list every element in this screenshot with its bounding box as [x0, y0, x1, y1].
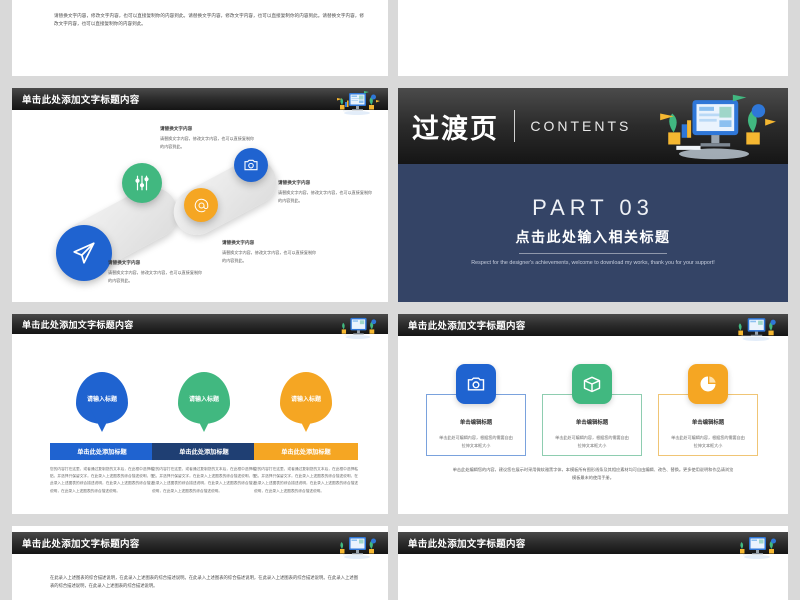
- slide-g-paragraph: 在此录入上述图表的综合描述说明，在此录入上述图表的综合描述说明。在此录入上述图表…: [50, 574, 358, 591]
- card-title: 单击编辑标题: [542, 418, 642, 426]
- slide-thumbnail-mid-left[interactable]: 单击此处添加文字标题内容: [12, 88, 388, 302]
- card-column-3: 单击编辑标题 单击此处可编辑内容，根据您的需要自由拉伸文本框大小: [658, 364, 758, 450]
- desk-illustration-icon: [334, 90, 380, 116]
- desk-illustration-icon: [336, 315, 380, 340]
- map-pin-icon[interactable]: 请输入标题: [280, 372, 332, 424]
- slide-c-titlebar: 单击此处添加文字标题内容: [12, 88, 388, 110]
- at-sign-icon[interactable]: [184, 188, 218, 222]
- paper-plane-icon[interactable]: [56, 225, 112, 281]
- slide-thumbnail-pins[interactable]: 单击此处添加文字标题内容: [12, 314, 388, 514]
- box-icon[interactable]: [572, 364, 612, 404]
- card-title: 单击编辑标题: [426, 418, 526, 426]
- slide-thumbnail-bottom-left[interactable]: 单击此处添加文字标题内容 在此录: [12, 526, 388, 600]
- card-column-2: 单击编辑标题 单击此处可编辑内容，根据您的需要自由拉伸文本框大小: [542, 364, 642, 450]
- card-column-1: 单击编辑标题 单击此处可编辑内容，根据您的需要自由拉伸文本框大小: [426, 364, 526, 450]
- slide-c-note-4: 请替换文字内容 请替换文字内容，修改文字内容，也可以直接复制你的内容到此。: [108, 260, 204, 285]
- pin-column-3: 请输入标题 单击此处添加标题 您的内容打在这里，或者通过复制您的文本后，在此框中…: [254, 372, 358, 495]
- card-body: 单击此处可编辑内容，根据您的需要自由拉伸文本框大小: [426, 434, 526, 450]
- map-pin-icon[interactable]: 请输入标题: [178, 372, 230, 424]
- note-title: 请替换文字内容: [278, 180, 374, 186]
- card-body: 单击此处可编辑内容，根据您的需要自由拉伸文本框大小: [658, 434, 758, 450]
- slide-c-title: 单击此处添加文字标题内容: [22, 92, 140, 106]
- note-body: 请替换文字内容，修改文字内容，也可以直接复制你的内容到此。: [278, 189, 374, 205]
- template-preview-page: 请替换文字内容，修改文字内容，也可以直接复制你的内容到此。请替换文字内容，修改文…: [0, 0, 800, 600]
- slide-c-note-2: 请替换文字内容 请替换文字内容，修改文字内容，也可以直接复制你的内容到此。: [278, 180, 374, 205]
- slide-f-title: 单击此处添加文字标题内容: [408, 318, 526, 332]
- note-body: 请替换文字内容，修改文字内容，也可以直接复制你的内容到此。: [108, 269, 204, 285]
- divider-header-en: CONTENTS: [530, 118, 631, 134]
- pin-column-2: 请输入标题 单击此处添加标题 您的内容打在这里，或者通过复制您的文本后，在此框中…: [152, 372, 256, 495]
- slide-g-title: 单击此处添加文字标题内容: [22, 536, 140, 550]
- note-title: 请替换文字内容: [108, 260, 204, 266]
- pin-label: 请输入标题: [87, 394, 117, 403]
- slide-thumbnail-section-divider[interactable]: 过渡页 CONTENTS: [398, 88, 788, 302]
- pin-bar-label[interactable]: 单击此处添加标题: [152, 443, 256, 460]
- slide-b-callout-left: 请替换文字内容 请替换文字内容，点击添加相关标题文字，修改文字内容，也可以直接复…: [424, 0, 520, 1]
- pie-chart-icon[interactable]: [688, 364, 728, 404]
- callout-body: 请替换文字内容，点击添加相关标题文字，修改文字内容，也可以直接复制你的内容到此。: [424, 0, 520, 1]
- desk-illustration-icon: [734, 534, 780, 560]
- pin-bar-label[interactable]: 单击此处添加标题: [254, 443, 358, 460]
- sliders-icon[interactable]: [122, 163, 162, 203]
- divider-rule: [519, 253, 667, 254]
- slide-c-note-1: 请替换文字内容 请替换文字内容，修改文字内容，也可以直接复制你的内容到此。: [160, 126, 256, 151]
- slide-a-paragraph: 请替换文字内容，修改文字内容，也可以直接复制你的内容到此。请替换文字内容，修改文…: [54, 12, 364, 29]
- slide-c-note-3: 请替换文字内容 请替换文字内容，修改文字内容，也可以直接复制你的内容到此。: [222, 240, 318, 265]
- desk-illustration-icon: [652, 92, 776, 162]
- pin-label: 请输入标题: [291, 394, 321, 403]
- slide-thumbnail-top-right[interactable]: 请替换文字内容 请替换文字内容，点击添加相关标题文字，修改文字内容，也可以直接复…: [398, 0, 788, 76]
- slide-thumbnail-top-left[interactable]: 请替换文字内容，修改文字内容，也可以直接复制你的内容到此。请替换文字内容，修改文…: [12, 0, 388, 76]
- card-body: 单击此处可编辑内容，根据您的需要自由拉伸文本框大小: [542, 434, 642, 450]
- divider-english-note: Respect for the designer's achievements,…: [398, 259, 788, 269]
- pin-body: 您的内容打在这里，或者通过复制您的文本后，在此框中选择粘贴，并选择只保留文字。在…: [152, 466, 256, 495]
- slide-f-titlebar: 单击此处添加文字标题内容: [398, 314, 788, 336]
- pin-body: 您的内容打在这里，或者通过复制您的文本后，在此框中选择粘贴，并选择只保留文字。在…: [254, 466, 358, 495]
- slide-g-titlebar: 单击此处添加文字标题内容: [12, 532, 388, 554]
- desk-illustration-icon: [732, 315, 780, 342]
- divider-separator: [514, 110, 515, 142]
- map-pin-icon[interactable]: 请输入标题: [76, 372, 128, 424]
- slide-h-titlebar: 单击此处添加文字标题内容: [398, 532, 788, 554]
- desk-illustration-icon: [334, 534, 380, 560]
- note-body: 请替换文字内容，修改文字内容，也可以直接复制你的内容到此。: [222, 249, 318, 265]
- slide-f-footer: 单击此处编辑您的内容，建议您在展示时采用微软雅黑字体，本模板所有图形线条及其相应…: [452, 466, 734, 483]
- note-title: 请替换文字内容: [222, 240, 318, 246]
- note-title: 请替换文字内容: [160, 126, 256, 132]
- slide-h-title: 单击此处添加文字标题内容: [408, 536, 526, 550]
- pin-column-1: 请输入标题 单击此处添加标题 您的内容打在这里，或者通过复制您的文本后，在此框中…: [50, 372, 154, 495]
- camera-icon[interactable]: [234, 148, 268, 182]
- camera-icon[interactable]: [456, 364, 496, 404]
- part-label: PART 03: [398, 195, 788, 221]
- note-body: 请替换文字内容，修改文字内容，也可以直接复制你的内容到此。: [160, 135, 256, 151]
- divider-header-cn: 过渡页: [412, 107, 499, 146]
- pin-label: 请输入标题: [189, 394, 219, 403]
- slide-e-titlebar: 单击此处添加文字标题内容: [12, 314, 388, 334]
- slide-e-title: 单击此处添加文字标题内容: [22, 318, 134, 331]
- divider-body: PART 03 点击此处输入相关标题 Respect for the desig…: [398, 164, 788, 302]
- pin-body: 您的内容打在这里，或者通过复制您的文本后，在此框中选择粘贴，并选择只保留文字。在…: [50, 466, 154, 495]
- card-title: 单击编辑标题: [658, 418, 758, 426]
- slide-thumbnail-bottom-right[interactable]: 单击此处添加文字标题内容: [398, 526, 788, 600]
- slide-thumbnail-cards[interactable]: 单击此处添加文字标题内容: [398, 314, 788, 514]
- divider-subtitle: 点击此处输入相关标题: [398, 227, 788, 247]
- tree-infographic: [486, 0, 606, 22]
- pin-bar-label[interactable]: 单击此处添加标题: [50, 443, 154, 460]
- divider-header: 过渡页 CONTENTS: [398, 88, 788, 164]
